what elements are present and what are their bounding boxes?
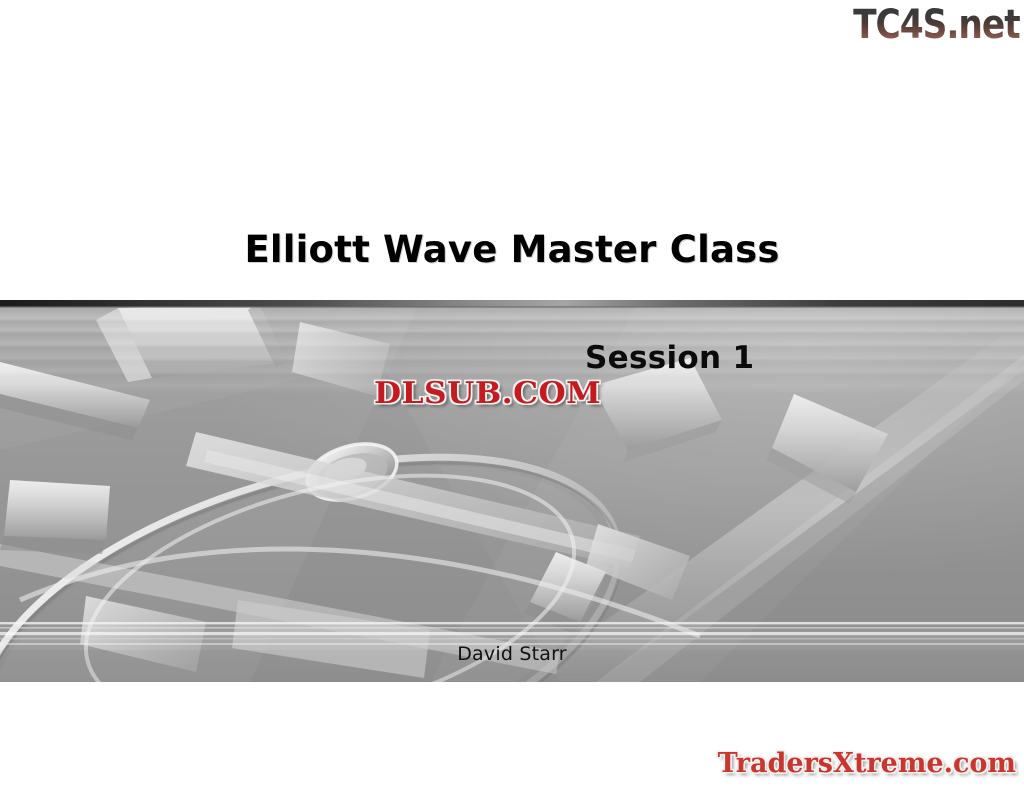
page-title: Elliott Wave Master Class bbox=[0, 228, 1024, 271]
title-slide: TC4S.net Elliott Wave Master Class bbox=[0, 0, 1024, 791]
presenter-name: David Starr bbox=[0, 643, 1024, 665]
session-label: Session 1 bbox=[585, 340, 754, 376]
tradersxtreme-brand-logo[interactable]: TradersXtreme.com bbox=[718, 748, 1016, 779]
dlsub-watermark: DLSUB.COM bbox=[374, 376, 601, 411]
banner-image bbox=[0, 300, 1024, 682]
banner-artwork-svg bbox=[0, 300, 1024, 682]
tc4s-brand-logo[interactable]: TC4S.net bbox=[853, 2, 1020, 48]
